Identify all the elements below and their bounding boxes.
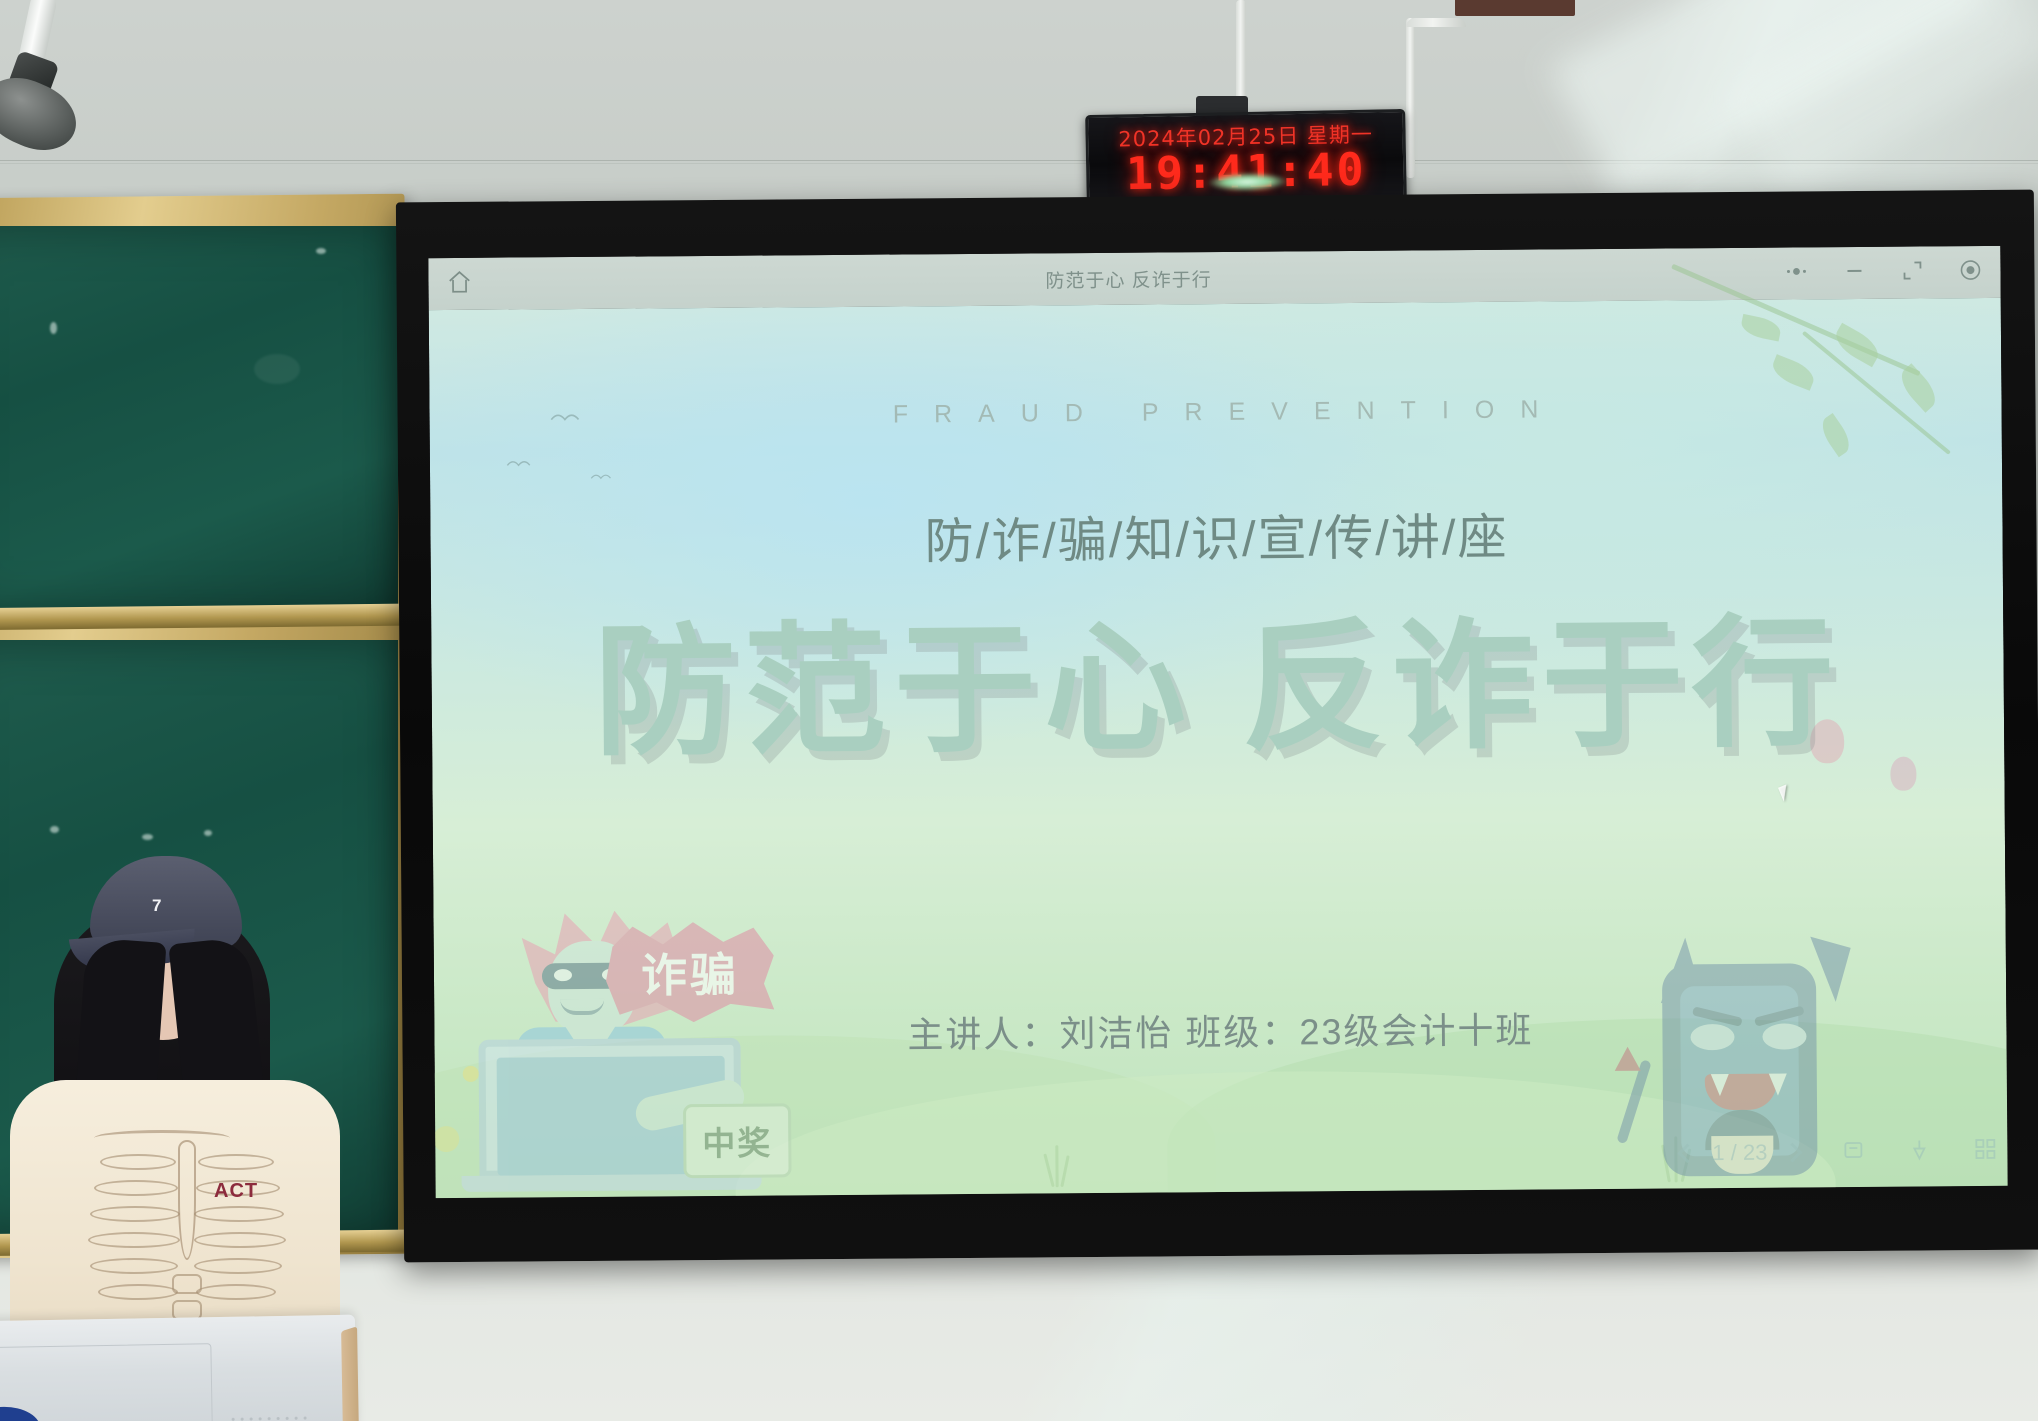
window-controls [1784,257,1982,288]
skeleton-rib [194,1232,286,1248]
grass-decoration [1055,1145,1058,1187]
prev-slide-button[interactable] [1677,1143,1697,1163]
skeleton-clavicle [94,1130,230,1146]
skeleton-rib [196,1284,276,1300]
leaf-decoration [1739,314,1782,342]
dot-decoration [433,1126,459,1152]
skeleton-vertebra [172,1274,202,1294]
chalk-mark [142,834,153,840]
blackboard-panel-top [0,226,398,616]
more-options-icon[interactable] [1784,259,1808,288]
led-clock: 2024年02月25日 星期一 19:41:40 [1085,109,1407,207]
cap-number: 7 [152,896,161,916]
slide-eyebrow-english: FRAUD PREVENTION [429,392,2001,433]
wall-seam [0,160,2038,161]
lectern-edge [341,1326,359,1421]
pointer-icon[interactable] [1907,1137,1931,1166]
wall-seam [0,163,2038,164]
fraud-badge: 诈骗 [606,921,775,1022]
scammer-laptop-illustration: 诈骗 中奖 [455,887,787,1190]
lectern-speaker-grille [229,1414,308,1421]
record-icon[interactable] [1958,257,1982,286]
presenter-person: 7 ACT [28,848,338,1368]
wall-conduit [1406,18,1415,178]
skeleton-rib [90,1206,180,1222]
chalk-mark [50,826,59,833]
devil-fang [1711,1074,1729,1096]
leaf-decoration [1769,354,1818,391]
bird-icon [590,469,614,483]
skeleton-rib [194,1206,284,1222]
skeleton-rib [194,1258,282,1274]
slide-canvas: FRAUD PREVENTION 防/诈/骗/知/识/宣/传/讲/座 防范于心 … [429,298,2008,1198]
skeleton-rib [90,1258,178,1274]
wall-conduit [1406,18,1466,27]
slide-subtitle: 防/诈/骗/知/识/宣/传/讲/座 [430,494,2003,577]
chalk-mark [316,248,326,254]
ceiling-fixture [1455,0,1575,16]
classroom-scene: 2024年02月25日 星期一 19:41:40 防范于心 反诈于行 [0,0,2038,1421]
chalk-mark [204,830,212,836]
slide-bottom-toolbar: 1 / 23 [1680,1128,1997,1176]
minimize-icon[interactable] [1842,258,1866,287]
slide-main-title: 防范于心 反诈于行 [431,566,2005,784]
projection-screen: 防范于心 反诈于行 [428,246,2007,1198]
chalk-mark [50,322,57,334]
lectern-panel [0,1343,213,1421]
grid-icon[interactable] [1973,1136,1997,1165]
next-slide-button[interactable] [1782,1143,1802,1163]
fullscreen-icon[interactable] [1900,258,1924,287]
presentation-title: 防范于心 反诈于行 [472,260,1784,297]
devil-tail-tip [1615,1047,1641,1071]
skeleton-rib [94,1180,178,1196]
wall-camera [0,0,108,164]
note-icon[interactable] [1841,1137,1865,1166]
skeleton-rib [98,1284,178,1300]
skeleton-rib [88,1232,180,1248]
mouse-pointer [1778,784,1792,801]
chalk-smudge [254,354,300,384]
led-clock-time: 19:41:40 [1089,142,1404,201]
lectern [0,1315,357,1421]
sweatshirt-logo: ACT [214,1180,258,1203]
bird-icon [506,455,534,469]
skeleton-sternum [178,1140,196,1260]
skeleton-rib [100,1154,176,1170]
devil-fang [1769,1074,1787,1096]
page-indicator: 1 / 23 [1712,1140,1767,1166]
prize-card: 中奖 [683,1103,792,1178]
scammer-eye [554,969,572,981]
slide-pager: 1 / 23 [1680,1139,1799,1166]
skeleton-rib [198,1154,274,1170]
home-icon[interactable] [446,268,472,299]
